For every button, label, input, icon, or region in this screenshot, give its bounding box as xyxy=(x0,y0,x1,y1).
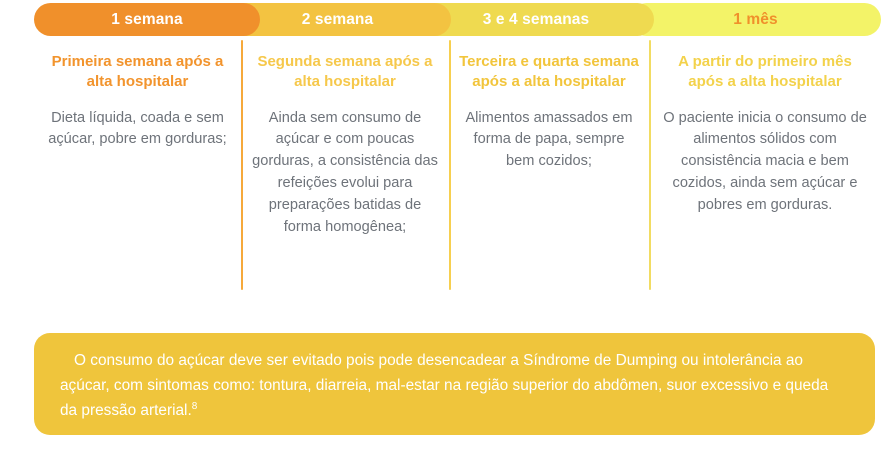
callout-citation-marker: 8 xyxy=(192,401,198,412)
phase-heading: Segunda semana após a alta hospitalar xyxy=(251,52,439,92)
timeline-tab-1-semana[interactable]: 1 semana xyxy=(34,3,260,36)
phase-body-text: Dieta líquida, coada e sem açúcar, pobre… xyxy=(44,108,231,152)
phase-heading: Primeira semana após a alta hospitalar xyxy=(44,52,231,92)
column-divider-3 xyxy=(649,40,651,290)
phase-body-text: Ainda sem consumo de açúcar e com poucas… xyxy=(251,108,439,239)
phase-body-text: Alimentos amassados em forma de papa, se… xyxy=(459,108,639,174)
phase-columns: Primeira semana após a alta hospitalar D… xyxy=(34,40,881,295)
phase-column-1: Primeira semana após a alta hospitalar D… xyxy=(34,40,241,295)
phase-body-text: O paciente inicia o consumo de alimentos… xyxy=(659,108,871,217)
timeline-tab-label: 3 e 4 semanas xyxy=(483,11,589,29)
phase-heading: A partir do primeiro mês após a alta hos… xyxy=(659,52,871,92)
timeline-tab-1-mes[interactable]: 1 mês xyxy=(630,3,881,36)
timeline-tab-bar: 1 semana 2 semana 3 e 4 semanas 1 mês xyxy=(34,3,881,36)
callout-text: O consumo do açúcar deve ser evitado poi… xyxy=(60,349,849,424)
phase-column-2: Segunda semana após a alta hospitalar Ai… xyxy=(241,40,449,295)
callout-body: O consumo do açúcar deve ser evitado poi… xyxy=(60,352,828,419)
phase-column-3: Terceira e quarta semana após a alta hos… xyxy=(449,40,649,295)
column-divider-1 xyxy=(241,40,243,290)
timeline-tab-label: 2 semana xyxy=(302,11,373,29)
column-divider-2 xyxy=(449,40,451,290)
warning-callout-banner: O consumo do açúcar deve ser evitado poi… xyxy=(34,333,875,435)
timeline-tab-label: 1 semana xyxy=(111,11,182,29)
phase-heading: Terceira e quarta semana após a alta hos… xyxy=(459,52,639,92)
phase-column-4: A partir do primeiro mês após a alta hos… xyxy=(649,40,881,295)
timeline-tab-label: 1 mês xyxy=(733,11,777,29)
timeline-tab-3-e-4-semanas[interactable]: 3 e 4 semanas xyxy=(418,3,654,36)
